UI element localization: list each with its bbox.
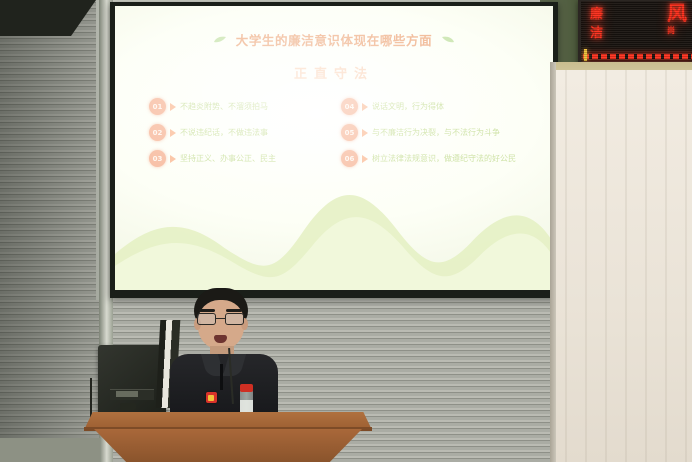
led-bottom-strip [583, 54, 692, 59]
slide-title: 大学生的廉洁意识体现在哪些方面 [236, 30, 433, 49]
eyebrow-left [199, 309, 215, 312]
party-emblem-pin [206, 392, 217, 403]
badge-number: 02 [149, 124, 166, 141]
glasses-icon [196, 313, 246, 325]
list-item: 01 不趋炎附势、不溜须拍马 [149, 98, 327, 115]
triangle-marker-icon [170, 103, 176, 111]
list-item: 04 说话文明，行为得体 [341, 98, 519, 115]
slide-bullet-grid: 01 不趋炎附势、不溜须拍马 04 说话文明，行为得体 02 不说违纪话，不做违… [141, 98, 527, 167]
led-glyph-4: 尚 [667, 27, 675, 35]
lectern-body [94, 429, 362, 462]
white-curtain [556, 70, 692, 462]
list-item-text: 树立法律法规意识，做遵纪守法的好公民 [372, 153, 516, 164]
list-item: 02 不说违纪话，不做违法事 [149, 124, 327, 141]
glasses-bridge [216, 318, 225, 319]
monitor-stand-knob [120, 403, 136, 410]
bottle-cap [240, 384, 253, 392]
badge-number: 04 [341, 98, 358, 115]
list-item-text: 坚持正义、办事公正、民主 [180, 153, 276, 164]
lens-left [197, 313, 216, 325]
badge-number: 03 [149, 150, 166, 167]
list-item-text: 说话文明，行为得体 [372, 101, 444, 112]
projection-screen: 大学生的廉洁意识体现在哪些方面 正直守法 01 不趋炎附势、不溜须拍马 04 [115, 6, 553, 290]
eyebrow-right [226, 309, 242, 312]
badge-number: 01 [149, 98, 166, 115]
triangle-marker-icon [170, 155, 176, 163]
bottle-label [240, 400, 253, 412]
triangle-marker-icon [362, 129, 368, 137]
presenter [168, 288, 280, 428]
badge-number: 06 [341, 150, 358, 167]
slide-subtitle: 正直守法 [141, 63, 527, 82]
list-item-text: 不说违纪话，不做违法事 [180, 127, 268, 138]
led-glyph-2: 洁 [590, 27, 603, 40]
led-glyph-3: 风 [667, 3, 687, 23]
leaf-ornament-icon-right [441, 35, 455, 44]
floor-strip [0, 438, 100, 462]
badge-number: 05 [341, 124, 358, 141]
lens-right [225, 313, 244, 325]
list-item-text: 与不廉洁行为决裂，与不法行为斗争 [372, 127, 500, 138]
list-item: 06 树立法律法规意识，做遵纪守法的好公民 [341, 150, 519, 167]
shirt-placket [220, 364, 223, 390]
triangle-marker-icon [170, 129, 176, 137]
slide-title-row: 大学生的廉洁意识体现在哪些方面 [141, 30, 527, 49]
red-led-display: 廉 洁 风 尚 [578, 0, 692, 70]
led-glyph-1: 廉 [590, 8, 603, 21]
lecture-hall-photo: 大学生的廉洁意识体现在哪些方面 正直守法 01 不趋炎附势、不溜须拍马 04 [0, 0, 692, 462]
projection-screen-frame: 大学生的廉洁意识体现在哪些方面 正直守法 01 不趋炎附势、不溜须拍马 04 [110, 2, 558, 298]
list-item: 03 坚持正义、办事公正、民主 [149, 150, 327, 167]
triangle-marker-icon [362, 103, 368, 111]
list-item: 05 与不廉洁行为决裂，与不法行为斗争 [341, 124, 519, 141]
list-item-text: 不趋炎附势、不溜须拍马 [180, 101, 268, 112]
led-amber-tick [584, 49, 587, 61]
triangle-marker-icon [362, 155, 368, 163]
leaf-ornament-icon [213, 35, 227, 44]
monitor-label [116, 391, 138, 397]
